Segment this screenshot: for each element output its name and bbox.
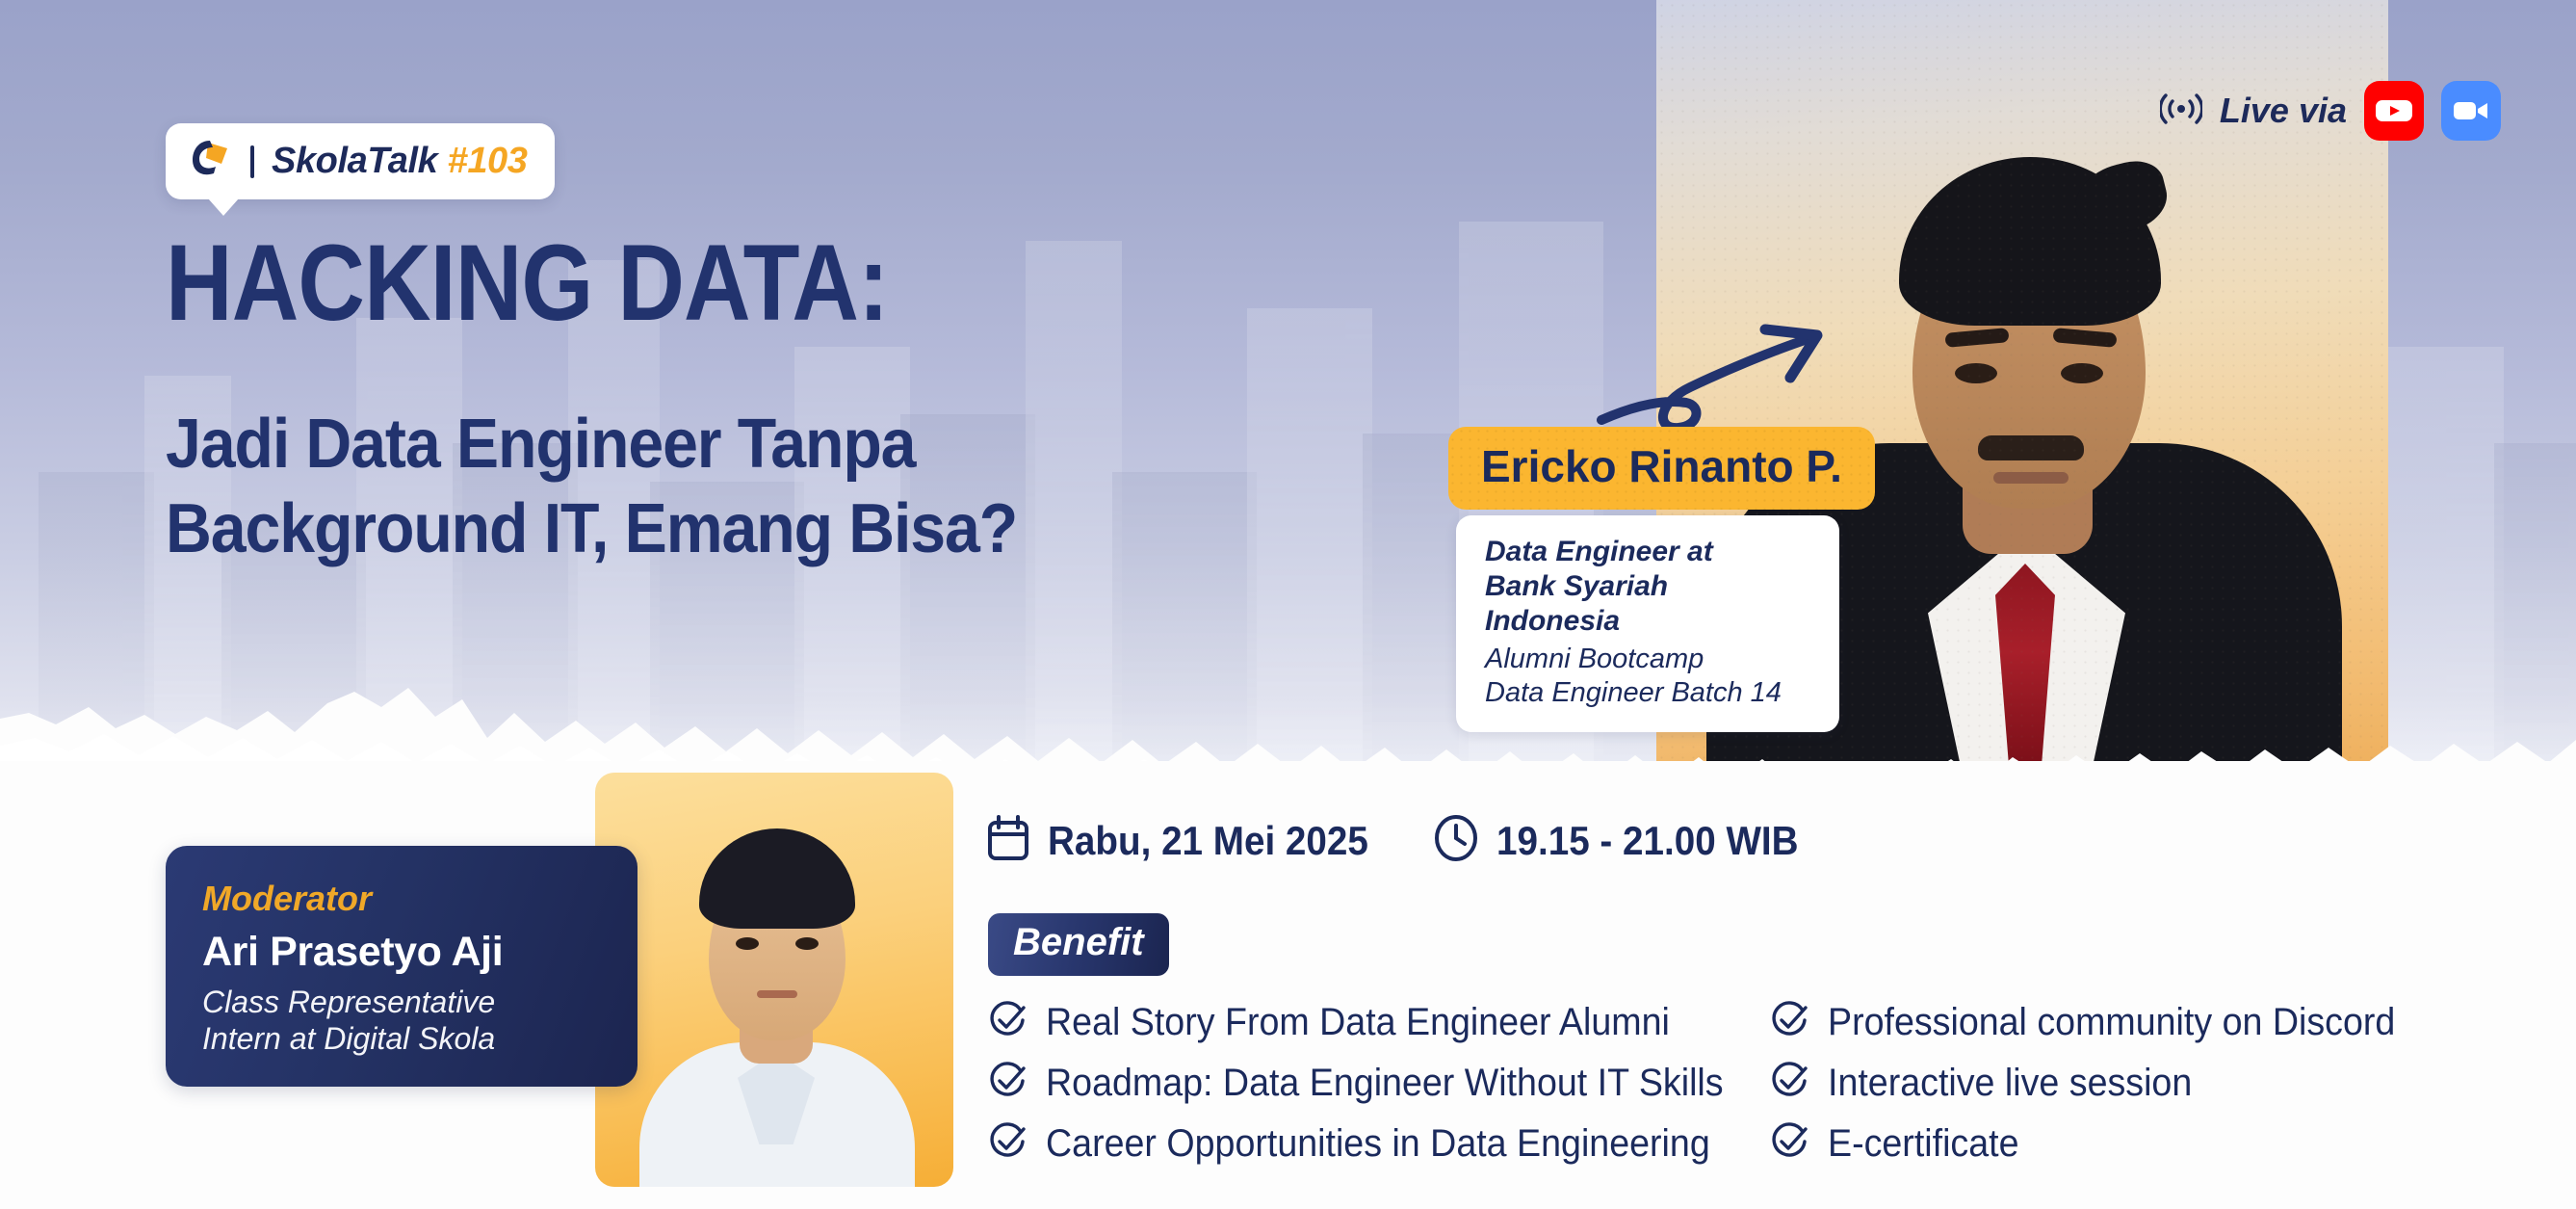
benefit-text: E-certificate	[1828, 1122, 2019, 1166]
speaker-alumni: Alumni Bootcamp Data Engineer Batch 14	[1485, 643, 1810, 711]
skolatalk-episode: #103	[448, 141, 528, 181]
moderator-role: Class Representative Intern at Digital S…	[202, 984, 603, 1058]
event-banner: SkolaTalk #103 Live via	[0, 0, 2576, 1209]
check-circle-icon	[988, 1062, 1027, 1105]
benefit-text: Career Opportunities in Data Engineering	[1046, 1122, 1710, 1166]
moderator-card: Moderator Ari Prasetyo Aji Class Represe…	[166, 846, 637, 1087]
benefit-list-left: Real Story From Data Engineer Alumni Roa…	[988, 992, 1767, 1174]
speaker-name-badge: Ericko Rinanto P.	[1448, 427, 1875, 510]
event-time: 19.15 - 21.00 WIB	[1433, 814, 1825, 867]
check-circle-icon	[988, 1001, 1027, 1044]
youtube-icon[interactable]	[2364, 81, 2424, 141]
hero-subtitle: Jadi Data Engineer Tanpa Background IT, …	[166, 403, 1017, 572]
skolatalk-badge: SkolaTalk #103	[166, 123, 555, 199]
schedule-row: Rabu, 21 Mei 2025 19.15 - 21.00 WIB	[986, 814, 1825, 867]
list-item: E-certificate	[1770, 1114, 2432, 1174]
check-circle-icon	[988, 1122, 1027, 1166]
clock-icon	[1433, 814, 1479, 867]
benefit-list-right: Professional community on Discord Intera…	[1770, 992, 2432, 1174]
speaker-info-card: Data Engineer at Bank Syariah Indonesia …	[1456, 515, 1839, 732]
speaker-role: Data Engineer at Bank Syariah Indonesia	[1485, 535, 1810, 639]
benefit-badge: Benefit	[988, 913, 1169, 976]
benefit-text: Roadmap: Data Engineer Without IT Skills	[1046, 1062, 1724, 1105]
benefit-text: Real Story From Data Engineer Alumni	[1046, 1001, 1670, 1044]
vertical-divider-icon	[250, 145, 254, 178]
hand-drawn-arrow-icon	[1594, 306, 1834, 441]
hero-section: SkolaTalk #103 Live via	[0, 0, 2576, 761]
hero-subtitle-line1: Jadi Data Engineer Tanpa	[166, 403, 1017, 487]
calendar-icon	[986, 814, 1030, 867]
torn-paper-edge	[0, 674, 2576, 761]
event-date-text: Rabu, 21 Mei 2025	[1048, 818, 1368, 864]
check-circle-icon	[1770, 1001, 1808, 1044]
benefit-text: Interactive live session	[1828, 1062, 2192, 1105]
broadcast-signal-icon	[2160, 92, 2202, 130]
hero-subtitle-line2: Background IT, Emang Bisa?	[166, 487, 1017, 572]
moderator-name: Ari Prasetyo Aji	[202, 929, 603, 976]
page-title: HACKING DATA:	[166, 229, 888, 337]
list-item: Real Story From Data Engineer Alumni	[988, 992, 1767, 1053]
list-item: Professional community on Discord	[1770, 992, 2432, 1053]
skolatalk-label: SkolaTalk #103	[272, 141, 528, 182]
event-date: Rabu, 21 Mei 2025	[986, 814, 1396, 867]
moderator-label: Moderator	[202, 879, 603, 919]
list-item: Career Opportunities in Data Engineering	[988, 1114, 1767, 1174]
check-circle-icon	[1770, 1122, 1808, 1166]
benefit-text: Professional community on Discord	[1828, 1001, 2395, 1044]
list-item: Interactive live session	[1770, 1053, 2432, 1114]
live-via-group: Live via	[2160, 81, 2501, 141]
skola-swoosh-logo-icon	[187, 139, 233, 184]
check-circle-icon	[1770, 1062, 1808, 1105]
list-item: Roadmap: Data Engineer Without IT Skills	[988, 1053, 1767, 1114]
zoom-icon[interactable]	[2441, 81, 2501, 141]
moderator-photo	[595, 773, 953, 1187]
event-time-text: 19.15 - 21.00 WIB	[1496, 818, 1799, 864]
live-via-label: Live via	[2220, 91, 2347, 131]
skolatalk-brand: SkolaTalk	[272, 141, 437, 181]
